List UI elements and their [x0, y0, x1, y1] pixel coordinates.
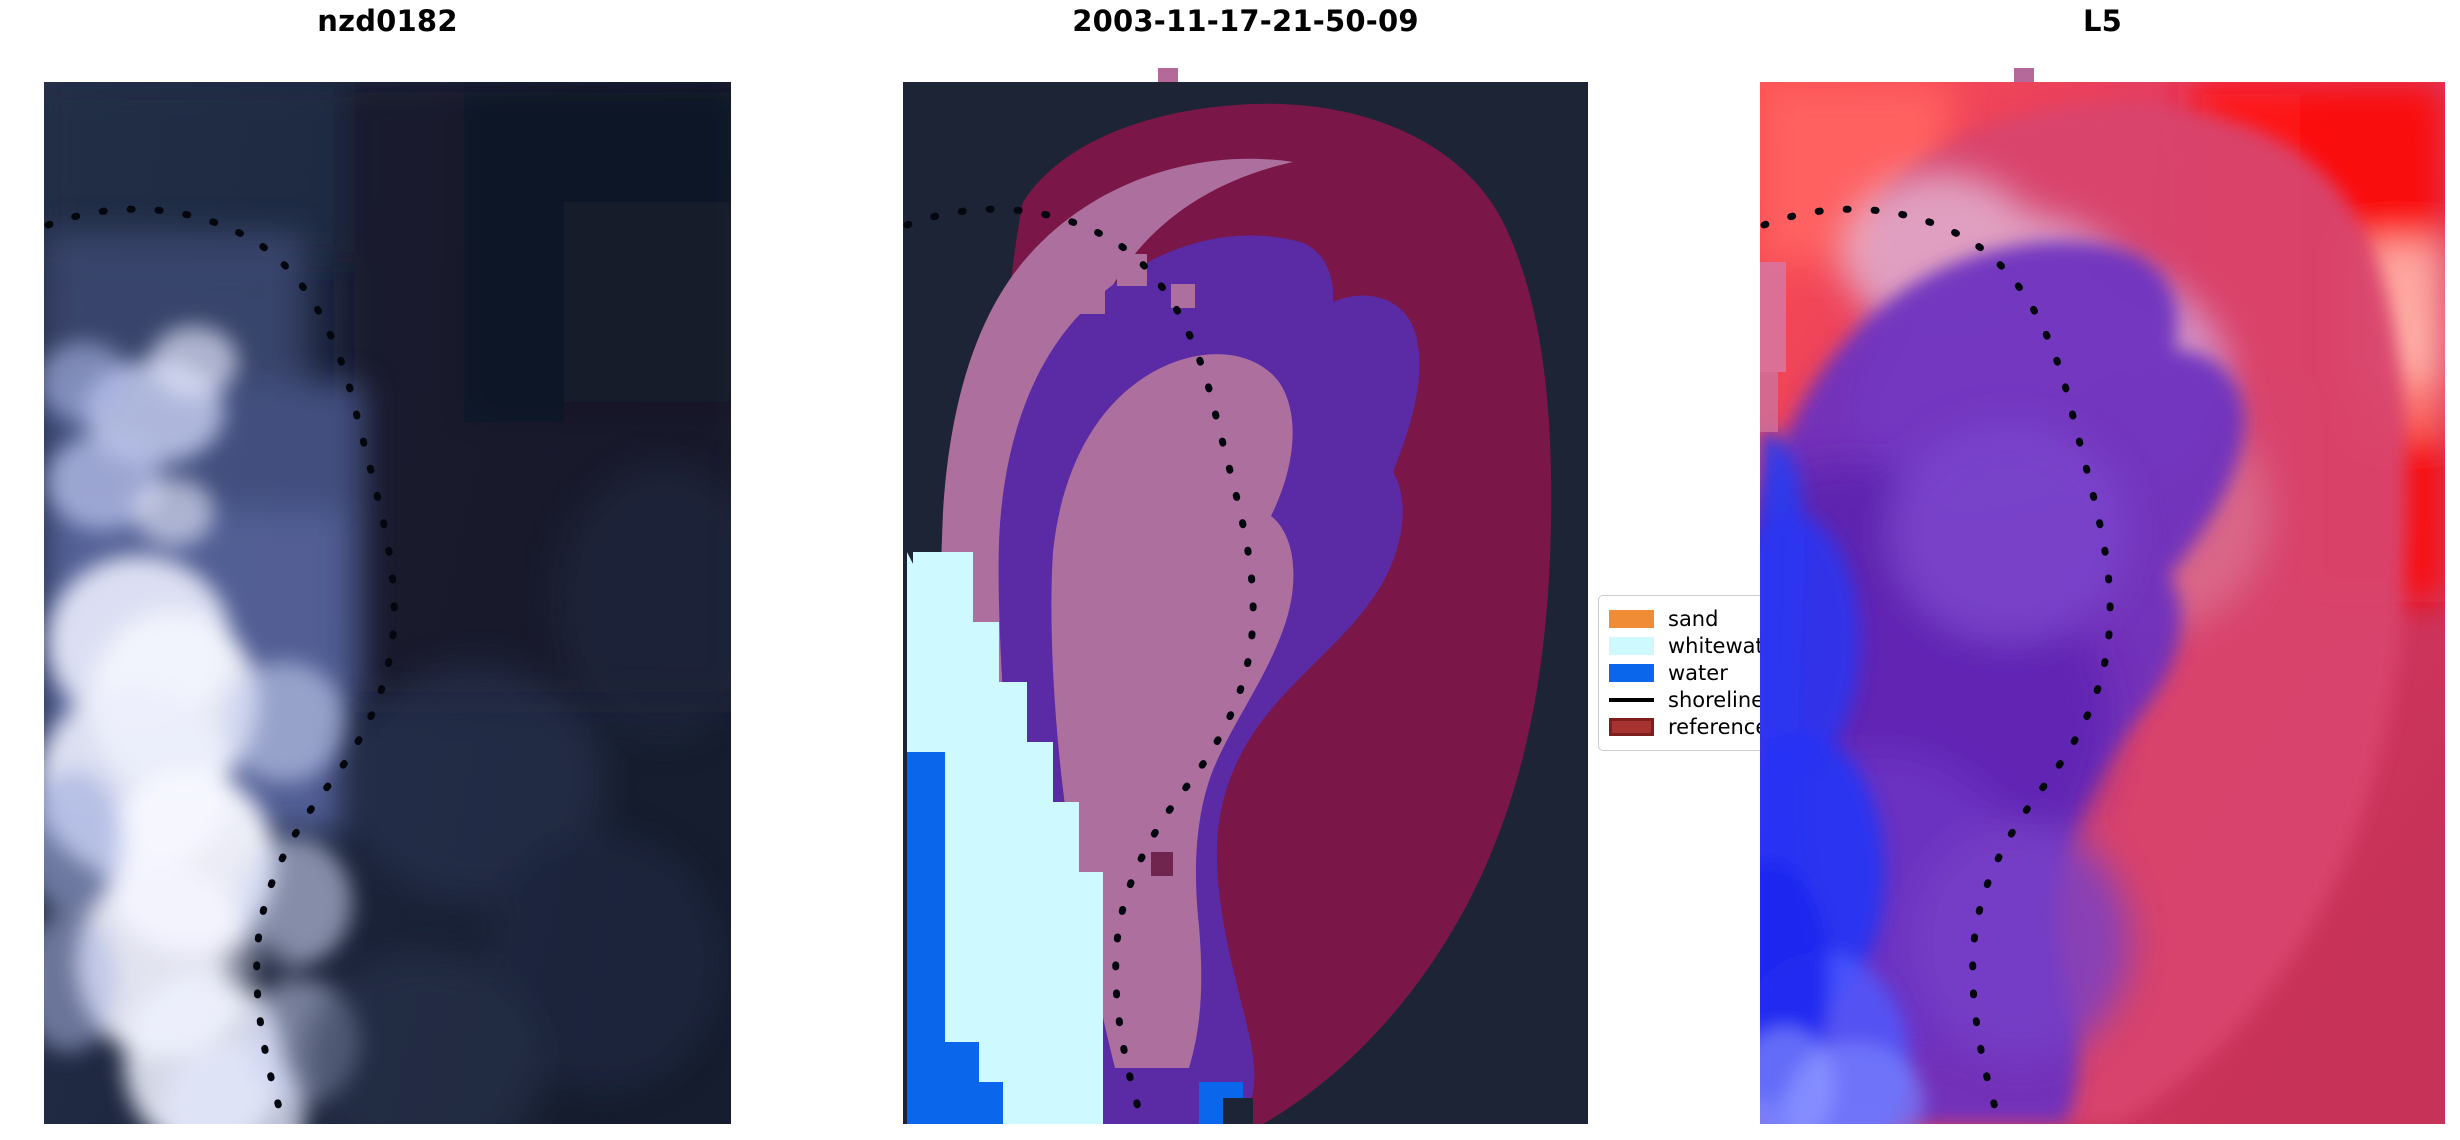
panel-title-2: L5 [1760, 4, 2445, 38]
satellite-rgb-raster [44, 82, 731, 1124]
legend-label-sand: sand [1668, 607, 1718, 631]
blended-overlay-raster [1760, 82, 2445, 1124]
legend-swatch-reference [1609, 718, 1654, 736]
legend-swatch-shoreline [1609, 698, 1654, 702]
classification-raster [903, 82, 1588, 1124]
image-panel-L5[interactable] [1760, 82, 2445, 1124]
panel-title-0: nzd0182 [44, 4, 731, 38]
legend-label-water: water [1668, 661, 1728, 685]
raster-top-notch-panel-1 [1158, 68, 1178, 82]
image-panel-nzd0182[interactable] [44, 82, 731, 1124]
panel-title-1: 2003-11-17-21-50-09 [903, 4, 1588, 38]
legend-label-shoreline: shoreline [1668, 688, 1764, 712]
raster-top-notch-panel-2 [2014, 68, 2034, 82]
legend-swatch-sand [1609, 610, 1654, 628]
legend-swatch-water [1609, 664, 1654, 682]
legend-swatch-whitewater [1609, 637, 1654, 655]
legend-label-reference: reference [1668, 715, 1768, 739]
figure-canvas: nzd0182 2003-11-17-21-50-09 L5 [0, 0, 2460, 1140]
image-panel-classification[interactable] [903, 82, 1588, 1124]
